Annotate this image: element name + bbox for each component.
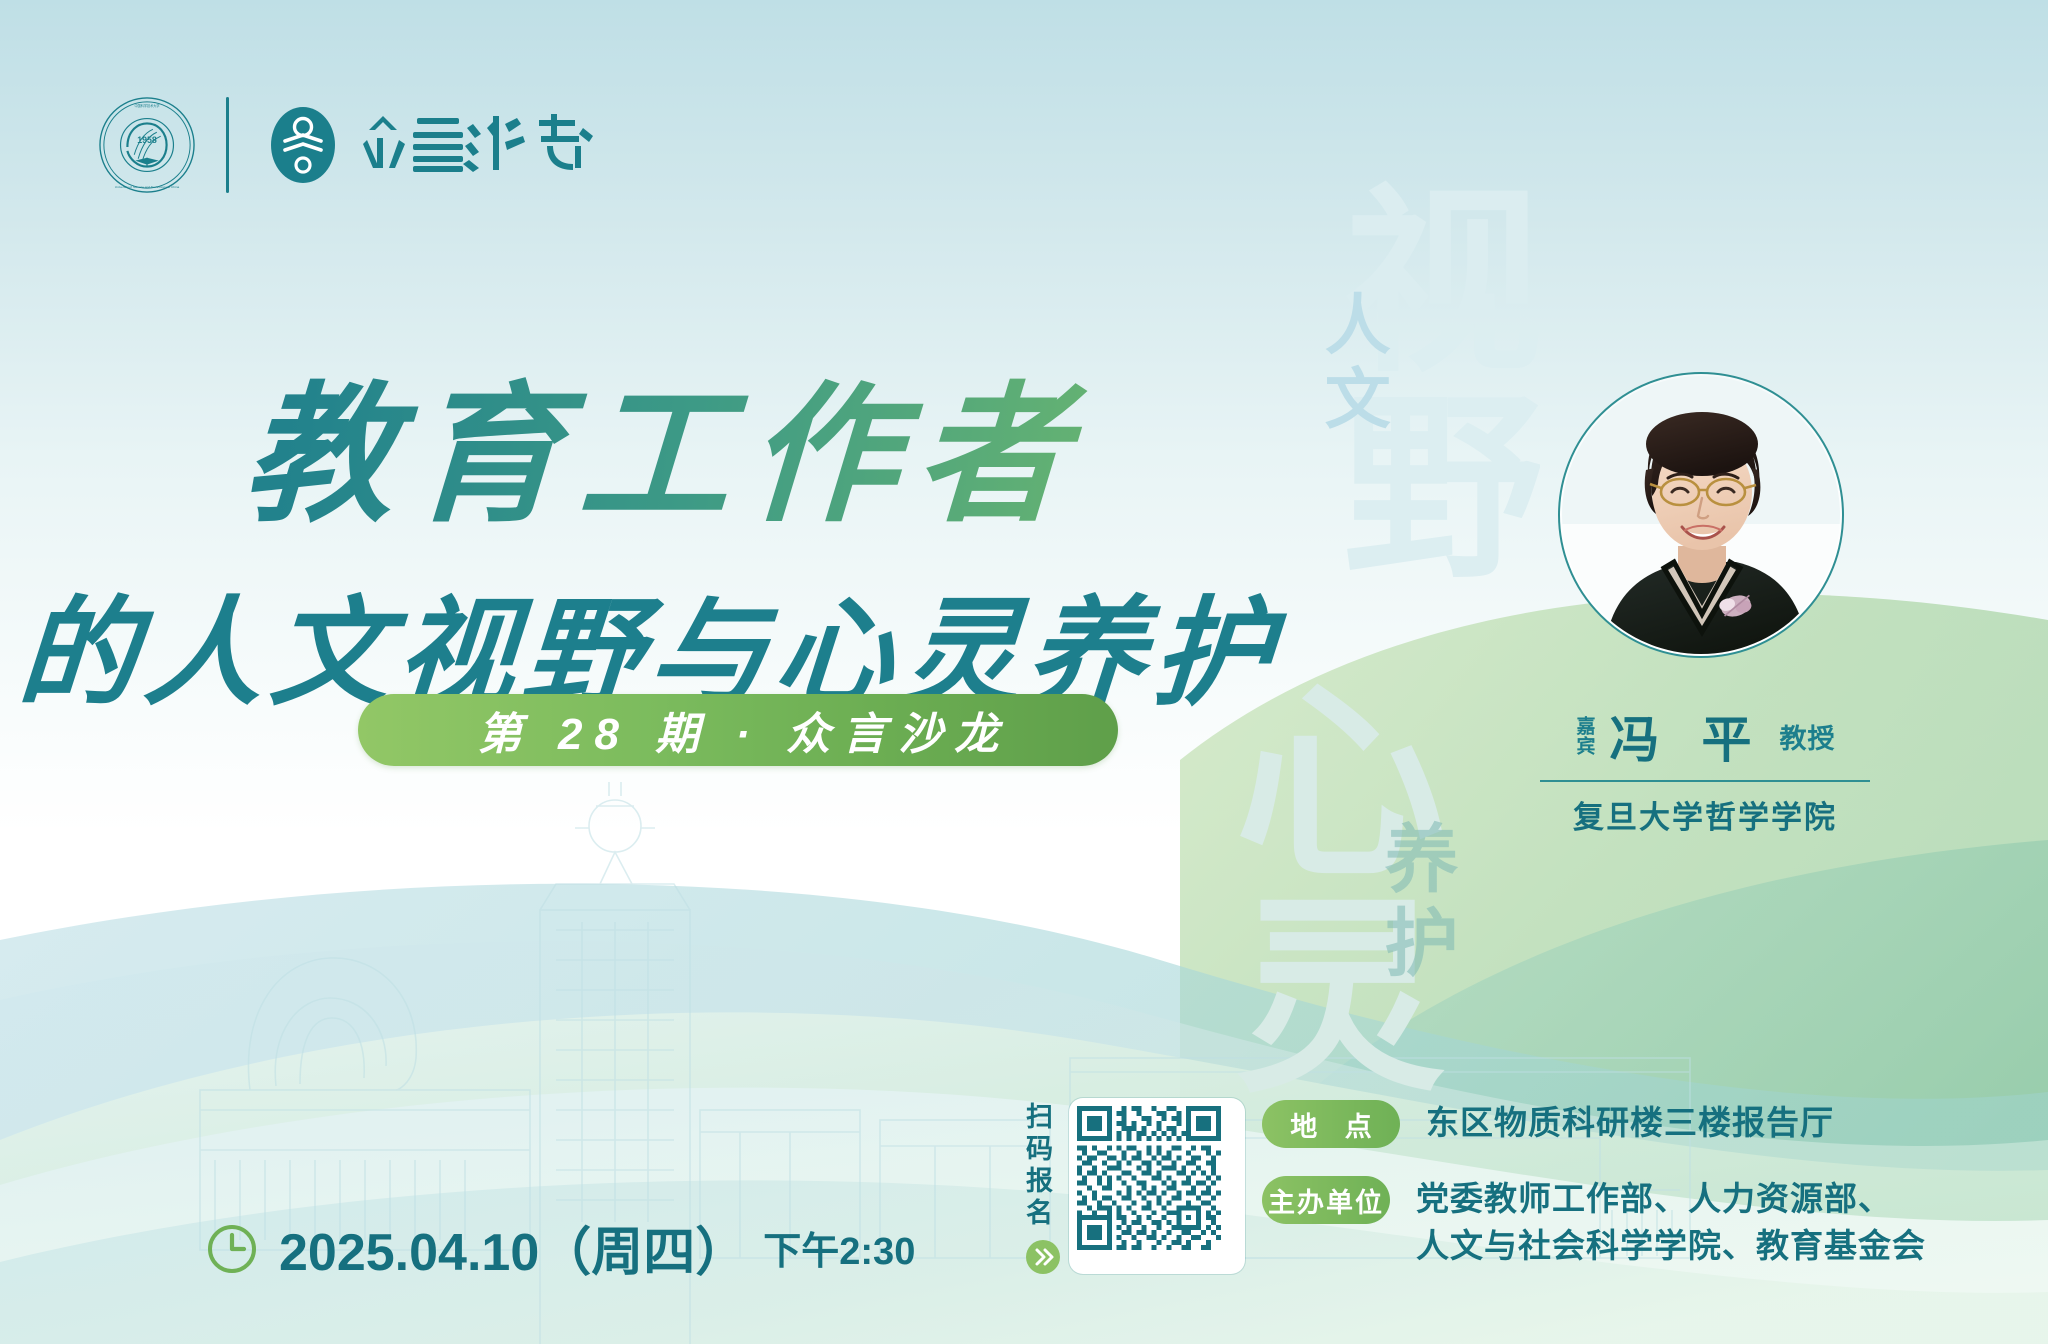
speaker-divider xyxy=(1540,780,1870,782)
event-poster: 视野 人文 心灵 养护 1958 中国科学技术大学 University of … xyxy=(0,0,2048,1344)
svg-text:1958: 1958 xyxy=(137,135,157,145)
speaker-role: 教授 xyxy=(1773,717,1835,756)
speaker-affiliation: 复旦大学哲学学院 xyxy=(1540,792,1870,837)
salon-wordmark-icon xyxy=(361,110,601,180)
episode-badge: 第 28 期 · 众言沙龙 xyxy=(358,694,1118,766)
speaker-name: 冯 平 xyxy=(1602,700,1766,772)
chip-organizers: 主办单位 xyxy=(1262,1176,1390,1224)
speaker-photo-icon xyxy=(1560,374,1842,656)
event-details: 地 点 东区物质科研楼三楼报告厅 主办单位 党委教师工作部、人力资源部、 人文与… xyxy=(1262,1100,2002,1298)
registration-qr[interactable]: 扫码报名 xyxy=(1018,1098,1245,1276)
event-date: 2025.04.10（周四） xyxy=(279,1210,747,1285)
clock-icon xyxy=(205,1221,259,1275)
svg-text:University of Science and Tech: University of Science and Technology of … xyxy=(115,185,180,189)
title-line-1: 教育工作者 xyxy=(24,334,1305,551)
event-datetime: 2025.04.10（周四） 下午2:30 xyxy=(205,1210,915,1285)
location-text: 东区物质科研楼三楼报告厅 xyxy=(1426,1100,1834,1147)
event-time: 下午2:30 xyxy=(763,1220,915,1275)
detail-row-organizers: 主办单位 党委教师工作部、人力资源部、 人文与社会科学学院、教育基金会 xyxy=(1262,1176,2002,1270)
salon-logo xyxy=(263,105,601,185)
episode-badge-label: 第 28 期 · 众言沙龙 xyxy=(466,698,1011,762)
chip-location: 地 点 xyxy=(1262,1100,1400,1148)
qr-label: 扫码报名 xyxy=(1018,1102,1057,1230)
organizers-text: 党委教师工作部、人力资源部、 人文与社会科学学院、教育基金会 xyxy=(1416,1176,1926,1270)
speaker-tag: 嘉宾 xyxy=(1575,714,1594,758)
salon-badge-icon xyxy=(263,105,343,185)
svg-text:中国科学技术大学: 中国科学技术大学 xyxy=(135,103,160,108)
university-seal-icon: 1958 中国科学技术大学 University of Science and … xyxy=(98,96,196,194)
detail-row-location: 地 点 东区物质科研楼三楼报告厅 xyxy=(1262,1100,2002,1148)
double-chevron-right-icon[interactable] xyxy=(1024,1238,1062,1276)
speaker-portrait xyxy=(1558,372,1844,658)
brand-header: 1958 中国科学技术大学 University of Science and … xyxy=(98,96,601,194)
brand-divider xyxy=(226,97,229,193)
speaker-info: 嘉宾 冯 平 教授 复旦大学哲学学院 xyxy=(1540,700,1870,837)
poster-title: 教育工作者 的人文视野与心灵养护 xyxy=(0,334,1300,728)
qr-code-icon[interactable] xyxy=(1069,1098,1245,1274)
